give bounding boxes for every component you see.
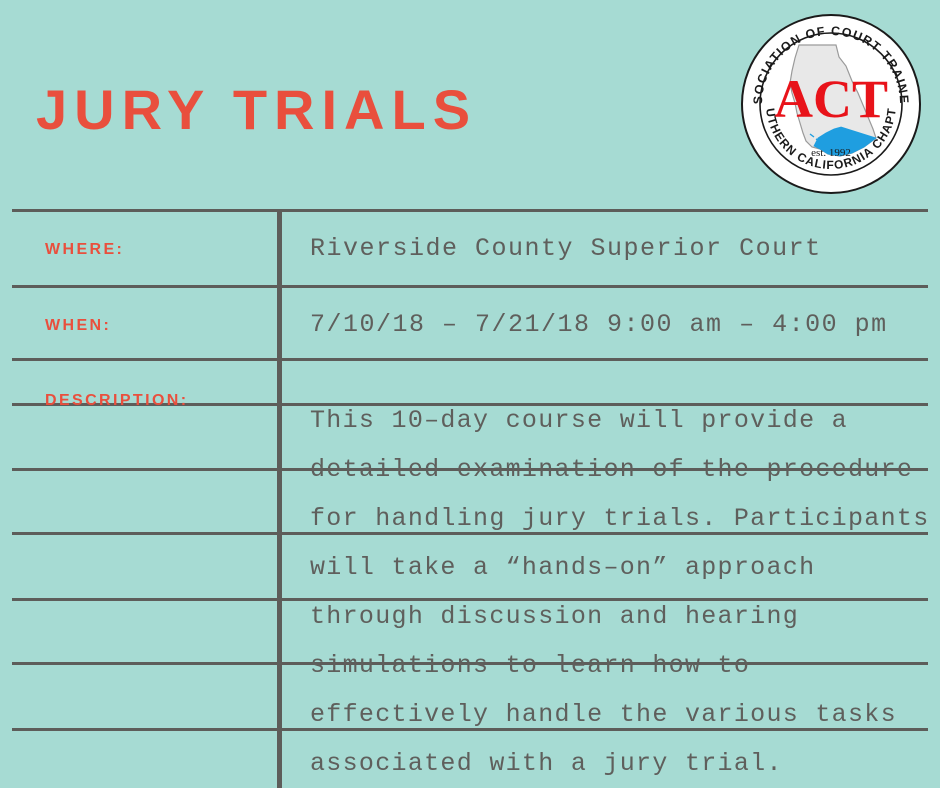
description-line: through discussion and hearing — [310, 602, 799, 631]
table-rule — [12, 285, 928, 288]
page-title: JURY TRIALS — [36, 82, 477, 138]
description-line: This 10–day course will provide a — [310, 406, 848, 435]
description-line: simulations to learn how to — [310, 651, 750, 680]
jury-trials-poster: JURY TRIALS ACT est. 1992 — [0, 0, 940, 788]
details-table: WHERE: Riverside County Superior Court W… — [12, 209, 928, 788]
description-line: for handling jury trials. Participants — [310, 504, 930, 533]
table-rule — [12, 209, 928, 212]
table-column-divider — [277, 212, 282, 788]
table-rule — [12, 598, 928, 601]
row-label-when: WHEN: — [45, 317, 111, 335]
row-label-where: WHERE: — [45, 241, 124, 259]
act-seal-logo: ACT est. 1992 ASSOCIATION OF COURT TRAIN… — [740, 13, 922, 195]
logo-monogram: ACT — [774, 69, 888, 129]
description-line: associated with a jury trial. — [310, 749, 783, 778]
description-line: effectively handle the various tasks — [310, 700, 897, 729]
row-label-description: DESCRIPTION: — [45, 392, 188, 410]
table-rule — [12, 358, 928, 361]
row-value-where: Riverside County Superior Court — [310, 234, 822, 263]
row-value-when: 7/10/18 – 7/21/18 9:00 am – 4:00 pm — [310, 310, 888, 339]
description-line: will take a “hands–on” approach — [310, 553, 815, 582]
poster-header: JURY TRIALS ACT est. 1992 — [0, 0, 940, 209]
description-line: detailed examination of the procedure — [310, 455, 913, 484]
